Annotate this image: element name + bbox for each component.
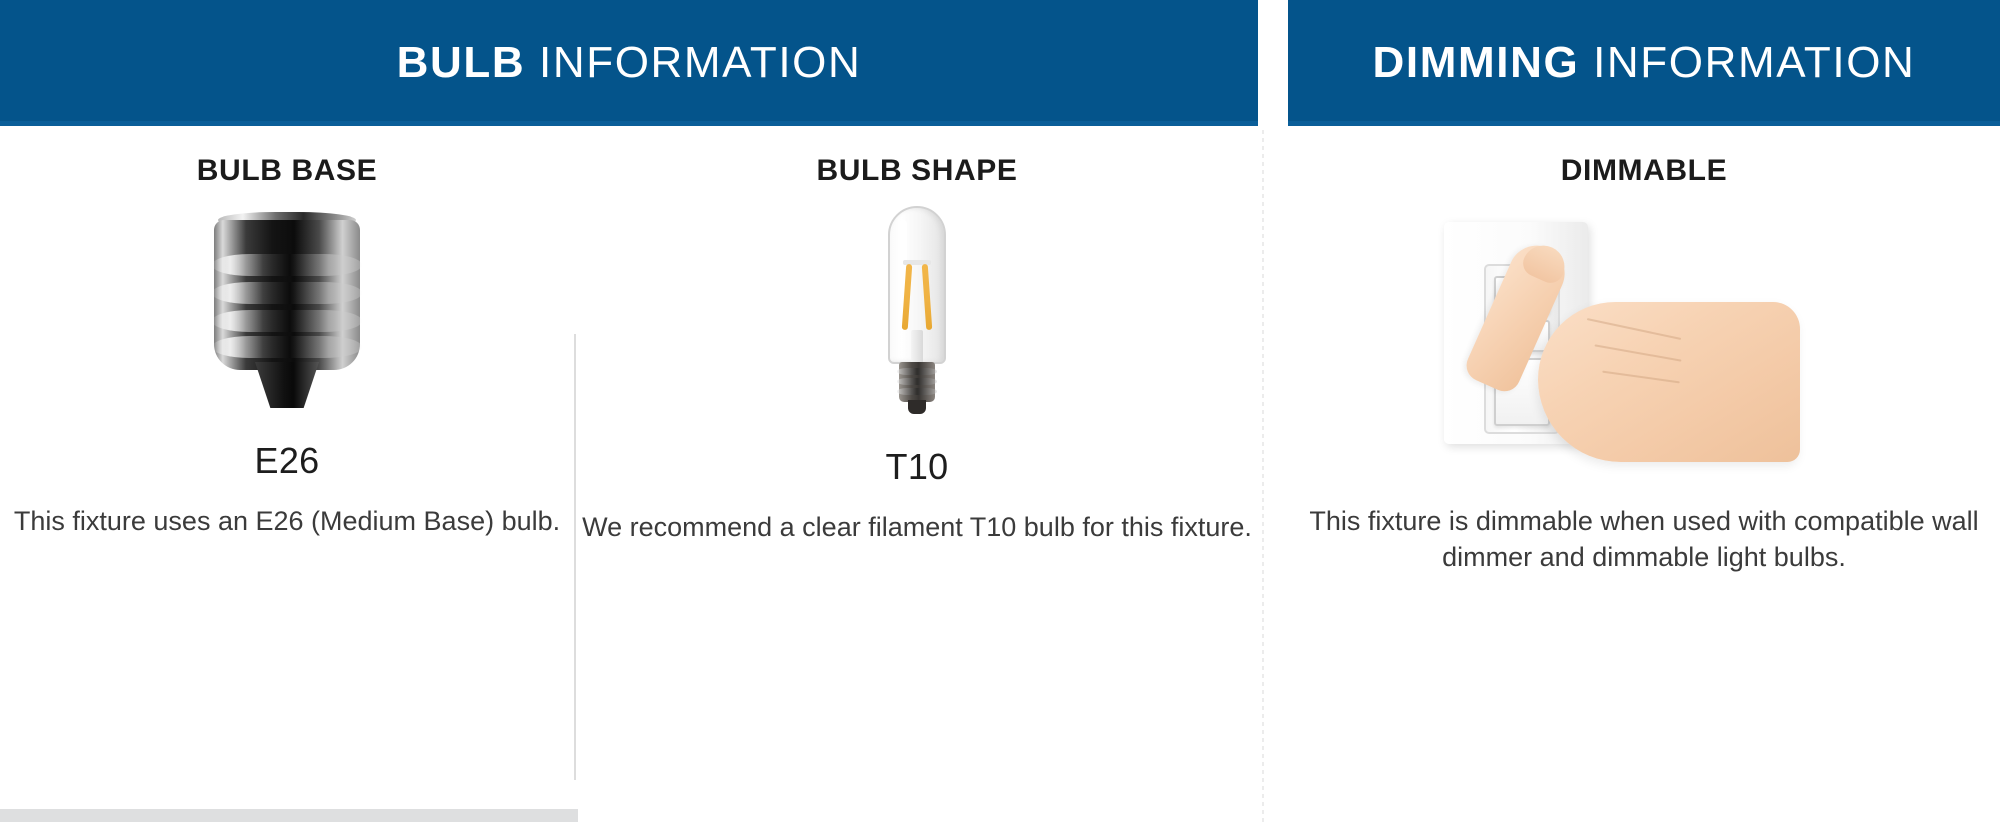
bulb-information-panel: BULB BASE E26 This fixture uses an E26 (… bbox=[0, 126, 1258, 822]
dimming-information-panel: DIMMABLE This fixture is dimmable when bbox=[1288, 126, 2000, 822]
e26-thread-1 bbox=[212, 254, 362, 276]
dimmable-image-slot bbox=[1288, 216, 2000, 476]
bulb-base-title: BULB BASE bbox=[0, 154, 574, 188]
t10-glass-stem bbox=[911, 330, 923, 364]
e26-contact-tip bbox=[255, 362, 319, 408]
bulb-information-header-title: BULB INFORMATION bbox=[397, 38, 862, 88]
dimmable-column: DIMMABLE This fixture is dimmable when bbox=[1288, 126, 2000, 576]
wall-dimmer-switch-with-hand-icon bbox=[1434, 216, 1854, 472]
bulb-shape-title: BULB SHAPE bbox=[576, 154, 1258, 188]
dimming-header-spacer bbox=[1579, 38, 1593, 87]
bulb-header-strong-word: BULB bbox=[397, 38, 526, 87]
e26-thread-4 bbox=[212, 336, 362, 358]
e26-screw-base-icon bbox=[214, 212, 360, 408]
dimming-header-light-word: INFORMATION bbox=[1593, 38, 1915, 87]
bulb-base-description: This fixture uses an E26 (Medium Base) b… bbox=[0, 504, 574, 540]
bulb-shape-description: We recommend a clear filament T10 bulb f… bbox=[576, 510, 1258, 546]
bulb-base-image-slot bbox=[0, 212, 574, 422]
dimming-information-header-title: DIMMING INFORMATION bbox=[1373, 38, 1916, 88]
t10-tubular-bulb-icon bbox=[880, 206, 954, 418]
panel-divider-left bbox=[1262, 130, 1264, 822]
bulb-shape-image-slot bbox=[576, 206, 1258, 422]
dimming-header-strong-word: DIMMING bbox=[1373, 38, 1580, 87]
bulb-header-light-word: INFORMATION bbox=[539, 38, 861, 87]
bulb-base-code: E26 bbox=[0, 440, 574, 482]
bulb-shape-column: BULB SHAPE T10 We recommend a cle bbox=[576, 126, 1258, 546]
dimmable-title: DIMMABLE bbox=[1288, 154, 2000, 188]
t10-base-contact-tip bbox=[908, 400, 926, 414]
t10-base-thread-2 bbox=[897, 378, 937, 385]
t10-base-thread-3 bbox=[897, 388, 937, 395]
bulb-shape-code: T10 bbox=[576, 446, 1258, 488]
dimming-information-header: DIMMING INFORMATION bbox=[1288, 0, 2000, 126]
bulb-and-dimming-info-page: BULB INFORMATION DIMMING INFORMATION BUL… bbox=[0, 0, 2000, 822]
led-tip-callout: Choose LED bulbs for cost and energy sav… bbox=[0, 809, 578, 822]
e26-thread-3 bbox=[212, 310, 362, 332]
bulb-base-column: BULB BASE E26 This fixture uses an E26 (… bbox=[0, 126, 574, 540]
bulb-header-spacer bbox=[525, 38, 539, 87]
e26-thread-2 bbox=[212, 282, 362, 304]
t10-base-thread-1 bbox=[897, 368, 937, 375]
dimmable-description: This fixture is dimmable when used with … bbox=[1288, 504, 2000, 576]
bulb-information-header: BULB INFORMATION bbox=[0, 0, 1258, 126]
